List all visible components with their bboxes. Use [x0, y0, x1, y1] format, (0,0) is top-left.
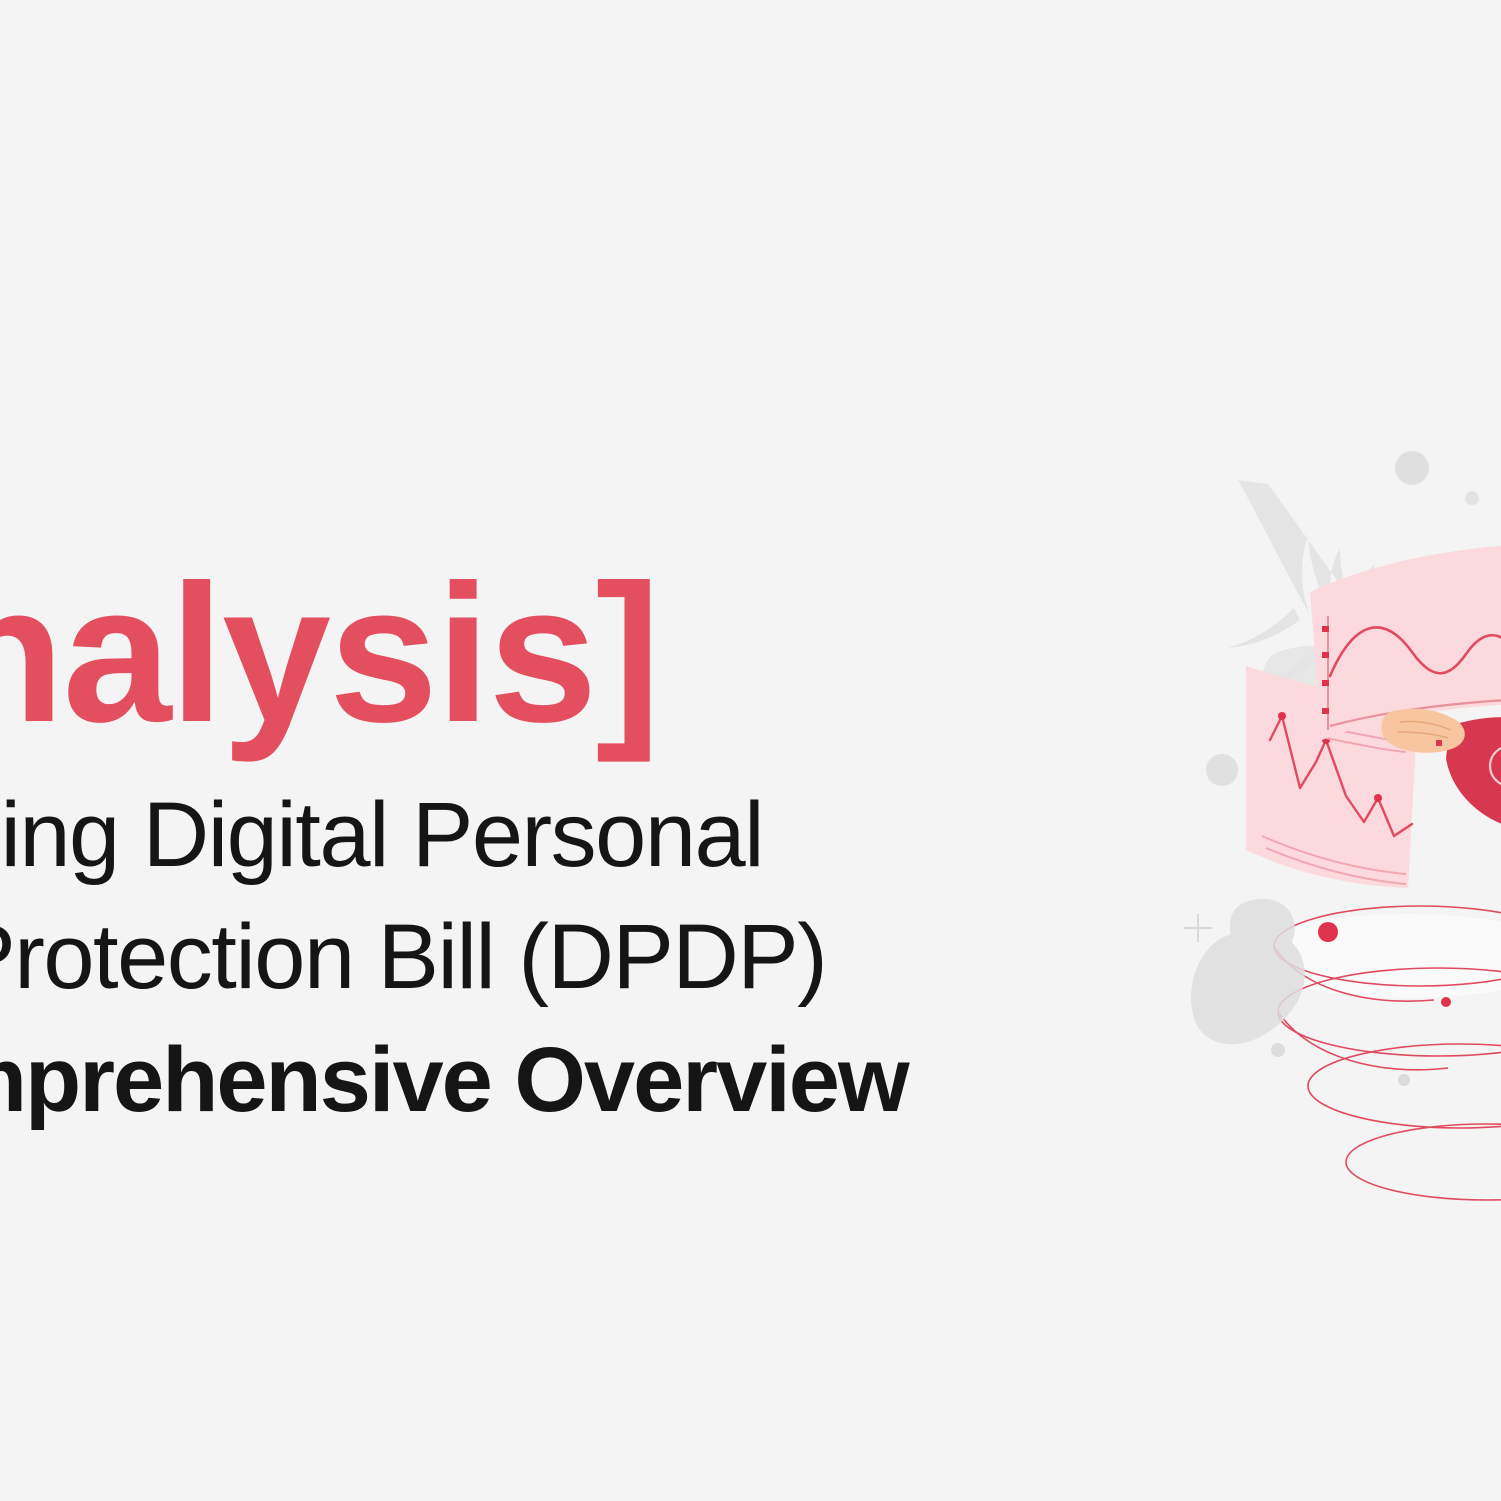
- person-figure: [1381, 654, 1501, 1064]
- red-spiral-ellipses: [1274, 906, 1501, 1200]
- gray-dot-icon: [1206, 754, 1238, 786]
- left-dashboard-panel: [1246, 666, 1418, 888]
- red-dot-accent: [1441, 997, 1451, 1007]
- ground-ellipse: [1248, 914, 1501, 998]
- subtitle-line-3: A Comprehensive Overview: [0, 1019, 862, 1141]
- hand: [1381, 709, 1464, 753]
- fern-leaf-icon: [1228, 480, 1428, 722]
- top-dashboard-panel: [1310, 542, 1501, 740]
- wave-chart-line: [1330, 627, 1501, 676]
- sparkle-plus-icon: [1184, 914, 1212, 942]
- gray-blob-decoration: [1191, 899, 1305, 1044]
- gray-dot-icon: [1398, 1074, 1410, 1086]
- hero-text-block: [Analysis] Decoding Digital Personal Dat…: [0, 552, 862, 1141]
- subtitle-line-1: Decoding Digital Personal: [0, 774, 862, 896]
- banner-canvas: [Analysis] Decoding Digital Personal Dat…: [0, 0, 1501, 1501]
- gray-dot-icon: [1271, 1043, 1285, 1057]
- hero-illustration: [1150, 440, 1501, 1340]
- red-dot-accent: [1318, 922, 1338, 942]
- gray-dot-icon: [1395, 451, 1429, 485]
- gray-blob-decoration: [1263, 645, 1399, 734]
- subtitle-line-2: Data Protection Bill (DPDP): [0, 896, 862, 1018]
- gray-dot-icon: [1465, 491, 1479, 505]
- zigzag-chart-line: [1270, 716, 1412, 836]
- page-title: [Analysis]: [0, 552, 862, 756]
- red-square-accent: [1436, 740, 1442, 746]
